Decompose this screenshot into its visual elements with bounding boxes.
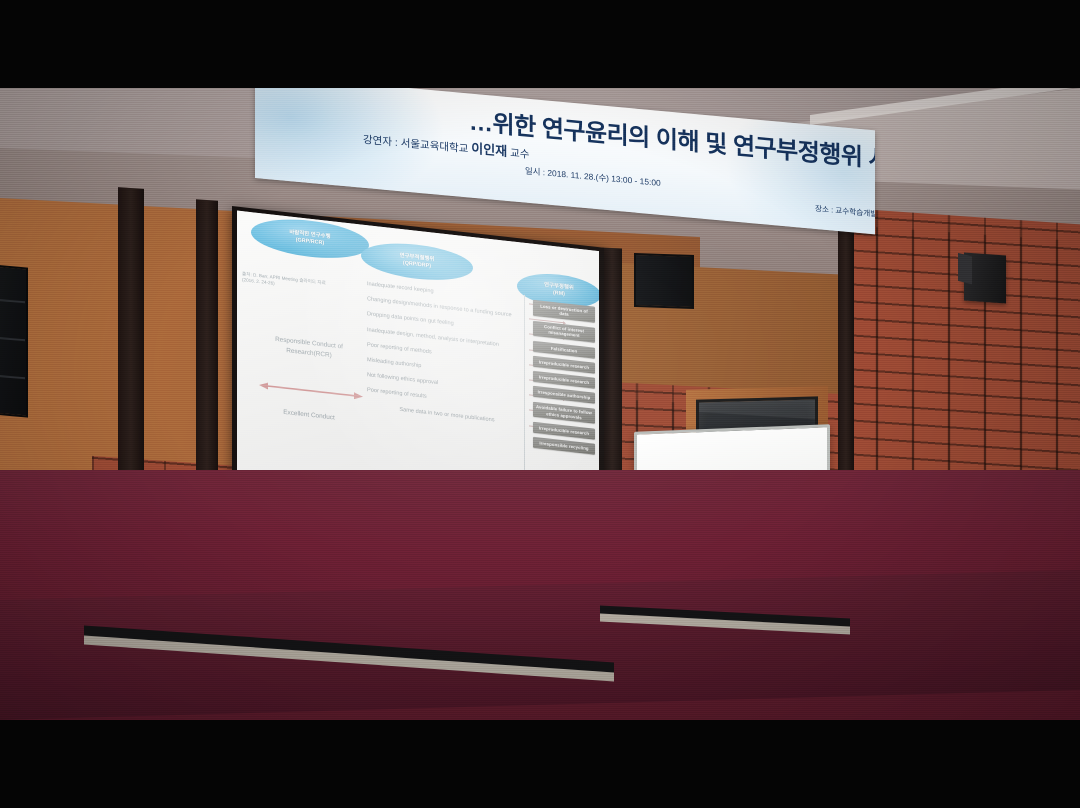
slide-ellipse-grp: 바람직한 연구수행 (GRP/RCR) (251, 214, 369, 263)
qrp-item-text: Misleading authorship (367, 357, 421, 369)
rm-box: Irreproducible research (533, 371, 595, 389)
ellipse-label-en: (RM) (553, 290, 565, 298)
wall-pillar-left (118, 187, 144, 489)
rm-box: Avoidable failure to follow ethics appro… (533, 401, 595, 424)
wall-pillar-mid (196, 199, 218, 501)
wall-speaker-right (964, 253, 1006, 304)
rcr-double-arrow-icon (259, 381, 363, 401)
banner-speaker-name: 이인재 (471, 141, 507, 159)
rm-box: Irreproducible research (533, 422, 595, 440)
letterbox-bottom (0, 720, 1080, 808)
letterbox-top (0, 0, 1080, 88)
slide-excellent-conduct-label: Excellent Conduct (259, 405, 359, 426)
qrp-item-text: Not following ethics approval (367, 372, 438, 386)
rm-box: Falsification (533, 341, 595, 359)
vertical-divider (524, 295, 525, 491)
rm-box: Irresponsible recycling (533, 437, 595, 455)
slide-ellipse-qrp: 연구부적절행위 (QRP/DRP) (361, 238, 473, 285)
qrp-item-list: Inadequate record keeping Changing desig… (367, 281, 527, 436)
slide-source-note: 출처: D. Barr, APRI Meeting 슬라이드 자료(2016. … (242, 271, 328, 293)
rm-box-list: Loss or destruction of data Conflict of … (533, 300, 595, 459)
screenshot-root: 바람직한 연구수행 (GRP/RCR) 연구부적절행위 (QRP/DRP) 연구… (0, 0, 1080, 808)
qrp-item-text: Inadequate record keeping (367, 281, 434, 294)
slide-rcr-label: Responsible Conduct of Research(RCR) (255, 333, 363, 364)
wall-pillar-far-right (838, 183, 854, 514)
qrp-item-text: Dropping data points on gut feeling (367, 312, 454, 328)
qrp-item-text: Poor reporting of results (367, 387, 427, 400)
acoustic-panel-upper (634, 253, 694, 309)
speaker-bracket (958, 253, 972, 284)
qrp-item-text: Poor reporting of methods (367, 342, 432, 355)
rm-box: Irresponsible authorship (533, 386, 595, 404)
banner-speaker-suffix: 교수 (510, 147, 529, 161)
lecture-hall-photo: 바람직한 연구수행 (GRP/RCR) 연구부적절행위 (QRP/DRP) 연구… (0, 88, 1080, 720)
banner-datetime: 일시 : 2018. 11. 28.(수) 13:00 - 15:00 (525, 165, 661, 189)
acoustic-panel-left (0, 264, 28, 417)
rm-box: Conflict of interest misanagement (533, 320, 595, 343)
rm-box: Irreproducible research (533, 356, 595, 374)
